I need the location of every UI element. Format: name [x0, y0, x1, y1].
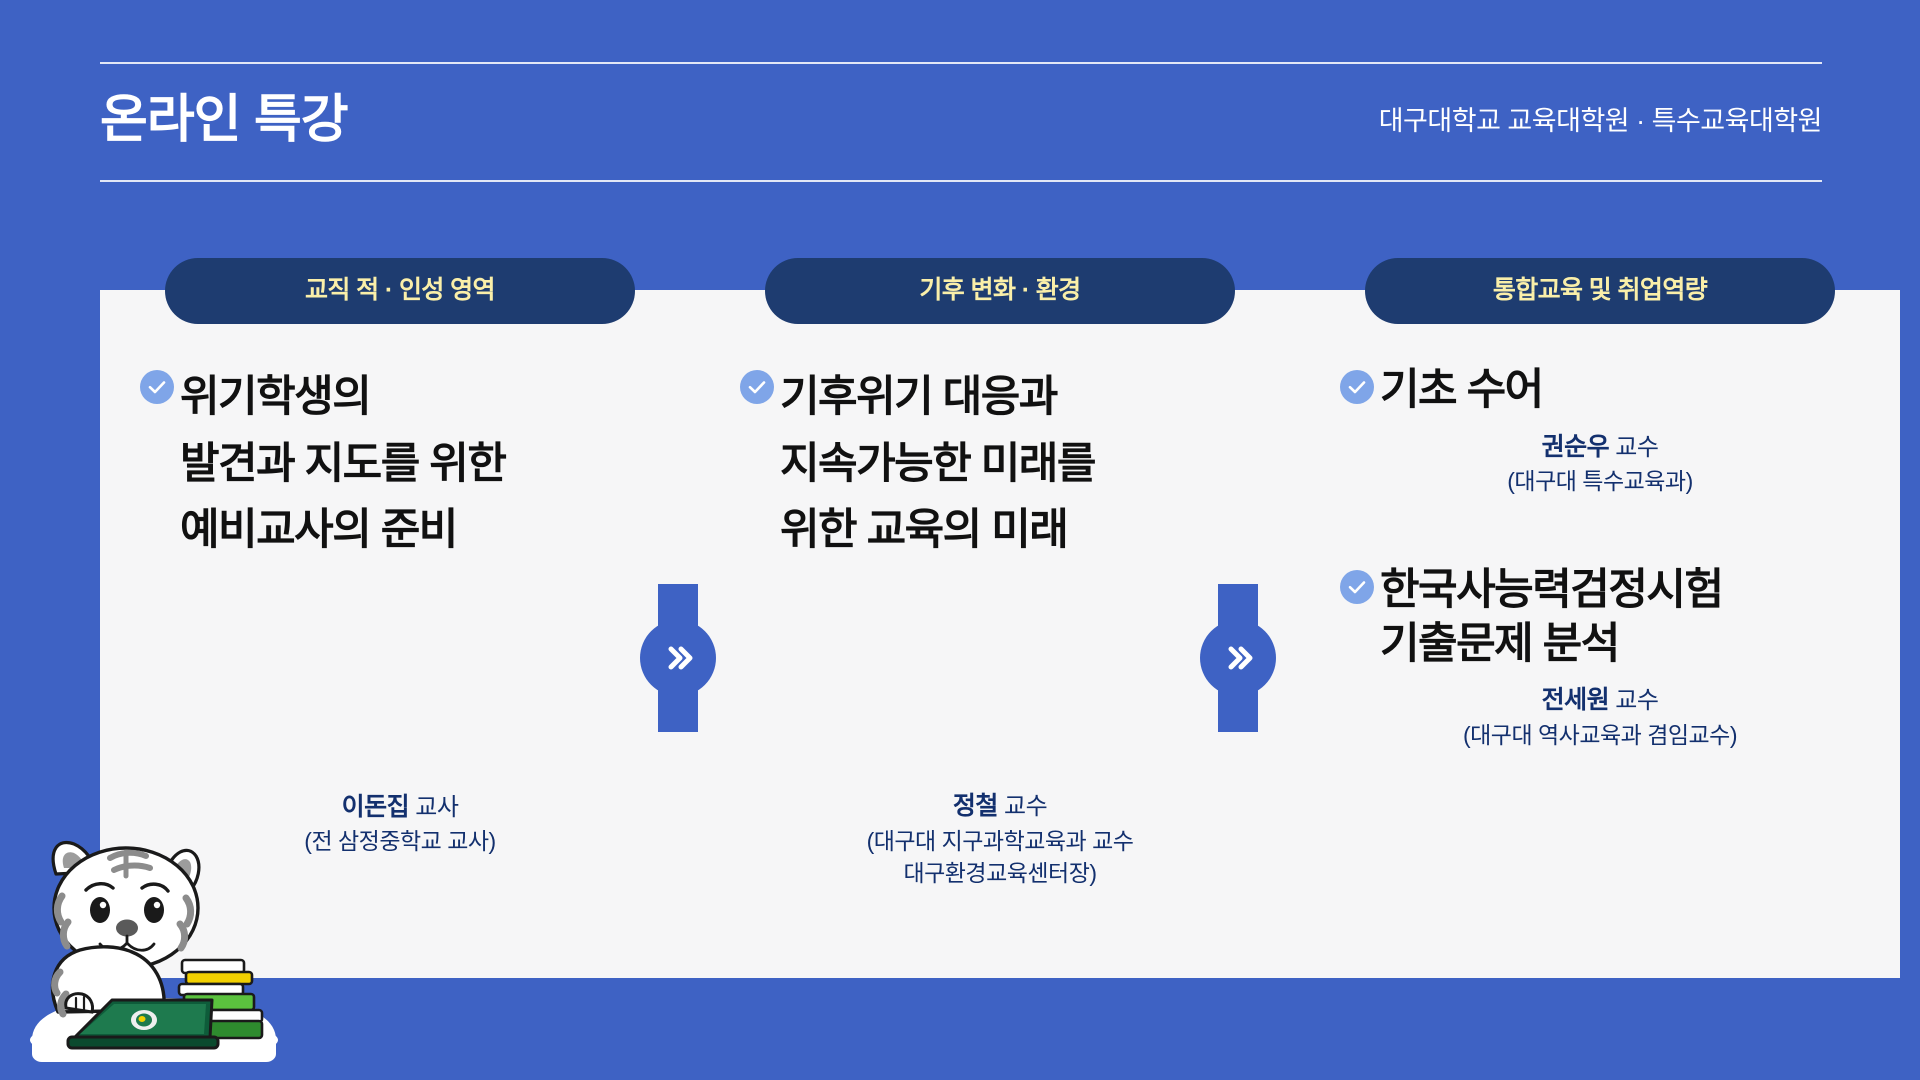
page-header: 온라인 특강 대구대학교 교육대학원 · 특수교육대학원: [100, 62, 1822, 182]
card-content-3: 기초 수어 권순우 교수 (대구대 특수교육과): [1300, 324, 1900, 978]
topic-title: 위기학생의 발견과 지도를 위한 예비교사의 준비: [180, 364, 666, 564]
speaker-line: 정철 교수: [734, 789, 1266, 825]
topic-item: 위기학생의 발견과 지도를 위한 예비교사의 준비: [134, 364, 666, 564]
lecture-cards-row: 교직 적 · 인성 영역 위기학생의 발견과 지도를 위한 예비교사의 준비 이…: [100, 258, 1822, 978]
speaker-name: 전세원: [1542, 686, 1610, 714]
speaker-affiliation: (대구대 역사교육과 겸임교수): [1334, 719, 1866, 752]
topic-title: 기후위기 대응과 지속가능한 미래를 위한 교육의 미래: [780, 364, 1266, 564]
speaker-affiliation: (대구대 특수교육과): [1334, 465, 1866, 498]
card-category-label-3: 통합교육 및 취업역량: [1493, 278, 1707, 305]
topic-item: 기후위기 대응과 지속가능한 미래를 위한 교육의 미래: [734, 364, 1266, 564]
card-category-label-1: 교직 적 · 인성 영역: [305, 278, 495, 305]
topic-item: 한국사능력검정시험 기출문제 분석: [1334, 564, 1866, 672]
card-category-pill-1: 교직 적 · 인성 영역: [165, 258, 635, 324]
speaker-block: 전세원 교수 (대구대 역사교육과 겸임교수): [1334, 683, 1866, 751]
speaker-role: 교수: [998, 793, 1047, 820]
card-connector-arrow-2: [1200, 620, 1276, 696]
page-title: 온라인 특강: [100, 94, 348, 150]
speaker-name: 권순우: [1542, 433, 1610, 461]
speaker-name: 정철: [953, 792, 998, 820]
topic-title: 한국사능력검정시험 기출문제 분석: [1380, 564, 1866, 672]
topic-group-1: 기초 수어 권순우 교수 (대구대 특수교육과): [1334, 364, 1866, 498]
speaker-affiliation: (대구대 지구과학교육과 교수 대구환경교육센터장): [734, 825, 1266, 890]
check-circle-icon: [140, 370, 174, 404]
speaker-block: 권순우 교수 (대구대 특수교육과): [1334, 430, 1866, 498]
topic-group-2: 한국사능력검정시험 기출문제 분석 전세원 교수 (대구대 역사교육과 겸임교수…: [1334, 564, 1866, 752]
topic-item: 기초 수어: [1334, 364, 1866, 418]
double-chevron-right-icon: [640, 620, 716, 696]
topic-title: 기초 수어: [1380, 364, 1866, 418]
card-connector-arrow-1: [640, 620, 716, 696]
check-circle-icon: [1340, 370, 1374, 404]
white-tiger-mascot: [14, 812, 294, 1062]
speaker-block: 정철 교수 (대구대 지구과학교육과 교수 대구환경교육센터장): [734, 789, 1266, 890]
speaker-role: 교수: [1609, 687, 1658, 714]
check-circle-icon: [740, 370, 774, 404]
card-category-label-2: 기후 변화 · 환경: [919, 278, 1080, 305]
check-circle-icon: [1340, 570, 1374, 604]
lecture-card-2[interactable]: 기후 변화 · 환경 기후위기 대응과 지속가능한 미래를 위한 교육의 미래 …: [700, 258, 1300, 978]
card-category-pill-3: 통합교육 및 취업역량: [1365, 258, 1835, 324]
organization-label: 대구대학교 교육대학원 · 특수교육대학원: [1379, 108, 1822, 137]
card-category-pill-2: 기후 변화 · 환경: [765, 258, 1235, 324]
lecture-card-3[interactable]: 통합교육 및 취업역량 기초 수어 권순우 교수: [1300, 258, 1900, 978]
speaker-line: 권순우 교수: [1334, 430, 1866, 466]
speaker-line: 전세원 교수: [1334, 683, 1866, 719]
speaker-role: 교수: [1609, 434, 1658, 461]
double-chevron-right-icon: [1200, 620, 1276, 696]
speaker-name: 이돈집: [342, 793, 410, 821]
speaker-role: 교사: [409, 794, 458, 821]
